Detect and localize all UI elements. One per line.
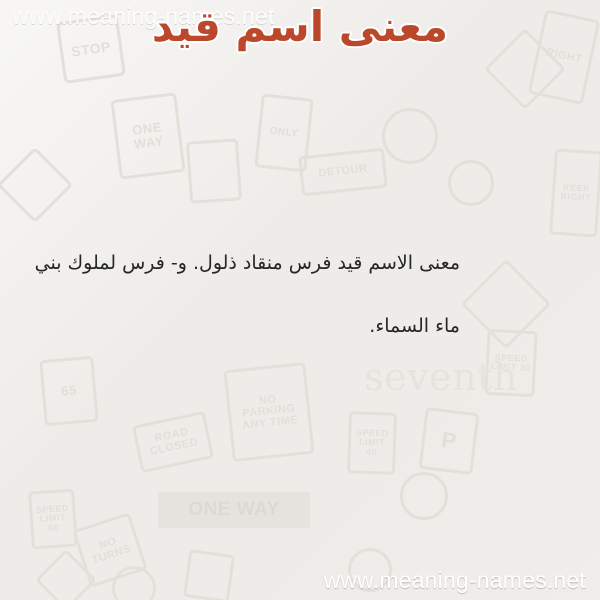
name-meaning-text: معنى الاسم قيد فرس منقاد ذلول. و- فرس لم… [40,232,460,358]
background-sign: NO PARKING ANY TIME [223,362,314,462]
background-sign: P [418,407,479,475]
background-sign: DETOUR [298,148,388,197]
meaning-paragraph-2: ماء السماء. [40,295,460,358]
background-sign: SPEED LIMIT 50 [28,488,78,549]
background-sign: ONE WAY [110,92,185,179]
background-sign [400,472,448,520]
background-sign: SPEED LIMIT 30 [484,329,537,398]
background-sign [183,549,235,600]
background-sign [0,147,73,223]
background-sign [448,160,494,206]
background-sign [461,259,552,350]
background-sign: ONE WAY [158,492,310,528]
background-sign [382,108,438,164]
background-sign: SPEED LIMIT 45 [347,411,397,475]
background-sign [186,138,242,203]
page-canvas: RIGHTSTOPONE WAYONLYDETOURKEEP RIGHTSPEE… [0,0,600,600]
watermark-bottom-right: www.meaning-names.net [324,567,586,594]
background-sign: 65 [39,356,99,426]
meaning-paragraph-1: معنى الاسم قيد فرس منقاد ذلول. و- فرس لم… [40,232,460,295]
background-sign: seventh [336,356,546,400]
page-title: معنى اسم قيد [0,2,600,51]
background-sign: KEEP RIGHT [549,148,600,237]
background-sign: ROAD CLOSED [132,411,214,473]
background-sign: NO TURNS [72,512,148,588]
background-sign [112,566,156,600]
background-sign [35,549,97,600]
background-sign: ONLY [254,93,313,172]
